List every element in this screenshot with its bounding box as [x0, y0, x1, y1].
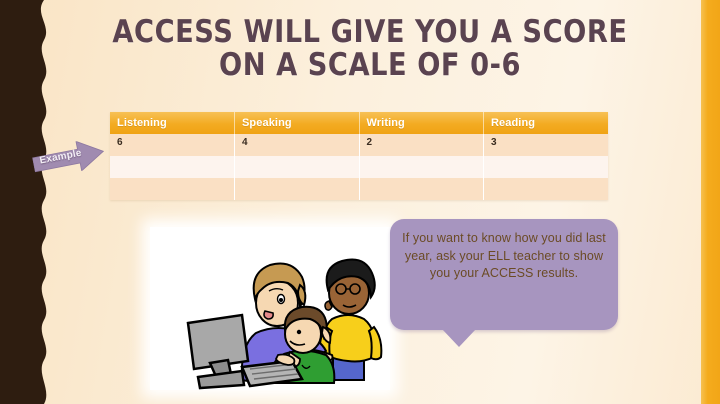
- speech-bubble-text: If you want to know how you did last yea…: [390, 219, 618, 283]
- table-row: [110, 156, 608, 178]
- cell-reading-score: 3: [484, 134, 609, 156]
- cell-empty: [110, 156, 235, 178]
- computer-lesson-clipart: [150, 227, 390, 390]
- table-row: 6 4 2 3: [110, 134, 608, 156]
- cell-empty: [359, 178, 484, 200]
- table-row: [110, 178, 608, 200]
- score-table: Listening Speaking Writing Reading 6 4 2…: [110, 112, 608, 200]
- column-header-speaking: Speaking: [235, 112, 360, 134]
- page-title: ACCESS WILL GIVE YOU A SCORE ON A SCALE …: [97, 16, 643, 82]
- cell-empty: [359, 156, 484, 178]
- cell-empty: [235, 178, 360, 200]
- right-accent-bar: [701, 0, 720, 404]
- cell-empty: [110, 178, 235, 200]
- cell-empty: [484, 156, 609, 178]
- cell-empty: [484, 178, 609, 200]
- computer-monitor: [188, 315, 248, 388]
- slide-canvas: ACCESS WILL GIVE YOU A SCORE ON A SCALE …: [0, 0, 720, 404]
- cell-empty: [235, 156, 360, 178]
- illustration-panel: [150, 227, 390, 390]
- speech-bubble: If you want to know how you did last yea…: [390, 219, 618, 330]
- cell-writing-score: 2: [359, 134, 484, 156]
- column-header-listening: Listening: [110, 112, 235, 134]
- table-header-row: Listening Speaking Writing Reading: [110, 112, 608, 134]
- left-wavy-border: [0, 0, 60, 404]
- cell-listening-score: 6: [110, 134, 235, 156]
- column-header-reading: Reading: [484, 112, 609, 134]
- column-header-writing: Writing: [359, 112, 484, 134]
- cell-speaking-score: 4: [235, 134, 360, 156]
- speech-bubble-tail: [442, 329, 476, 347]
